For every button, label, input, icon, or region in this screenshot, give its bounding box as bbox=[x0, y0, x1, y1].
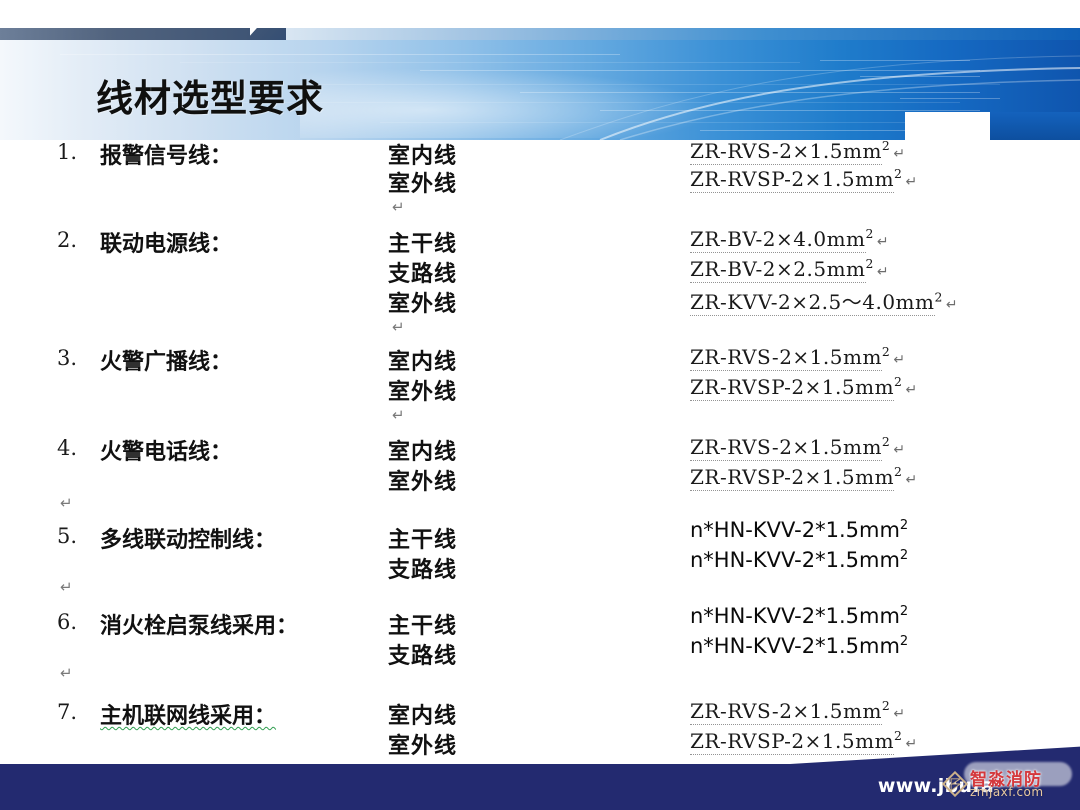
wire-spec: ZR-RVS-2×1.5mm2↵ bbox=[690, 344, 906, 369]
item-number: 7. bbox=[57, 700, 97, 724]
wire-scope: 室内线 bbox=[388, 344, 457, 376]
pilcrow-mark: ↵ bbox=[893, 442, 905, 458]
wire-spec: n*HN-KVV-2*1.5mm2 bbox=[690, 634, 908, 658]
header-glow bbox=[300, 68, 720, 138]
wire-spec: ZR-RVSP-2×1.5mm2↵ bbox=[690, 464, 918, 489]
item-number: 6. bbox=[57, 610, 97, 634]
slide-body: 1. 报警信号线： 室内线 室外线 ZR-RVS-2×1.5mm2↵ ZR-RV… bbox=[0, 132, 1080, 752]
wire-spec-sup: 2 bbox=[900, 604, 908, 619]
wire-spec: n*HN-KVV-2*1.5mm2 bbox=[690, 518, 908, 542]
wire-spec-text: ZR-BV-2×2.5mm bbox=[690, 257, 866, 283]
item-number: 2. bbox=[57, 228, 97, 252]
wire-scope: 主干线 bbox=[388, 522, 457, 554]
wire-spec-text: n*HN-KVV-2*1.5mm bbox=[690, 518, 900, 542]
pilcrow-mark: ↵ bbox=[60, 664, 73, 682]
pilcrow-mark: ↵ bbox=[392, 198, 405, 216]
wire-spec: ZR-RVS-2×1.5mm2↵ bbox=[690, 138, 906, 163]
pilcrow-mark: ↵ bbox=[905, 174, 917, 190]
wire-spec-text: ZR-RVSP-2×1.5mm bbox=[690, 465, 894, 491]
item-label: 联动电源线： bbox=[100, 226, 232, 258]
wire-spec: ZR-RVSP-2×1.5mm2↵ bbox=[690, 374, 918, 399]
wire-spec-sup: 2 bbox=[882, 344, 890, 359]
wire-spec-sup: 2 bbox=[900, 634, 908, 649]
wire-spec-sup: 2 bbox=[894, 464, 902, 479]
wire-spec-text: n*HN-KVV-2*1.5mm bbox=[690, 548, 900, 572]
watermark-logo: 智淼消防 zmjaxf.com bbox=[936, 760, 1076, 806]
wire-scope: 室外线 bbox=[388, 286, 457, 318]
wire-spec-text: ZR-RVS-2×1.5mm bbox=[690, 345, 882, 371]
wire-spec-sup: 2 bbox=[882, 434, 890, 449]
header-top-strip bbox=[286, 28, 1080, 40]
wire-scope: 室外线 bbox=[388, 166, 457, 198]
item-label: 多线联动控制线： bbox=[100, 522, 276, 554]
wire-spec: ZR-BV-2×4.0mm2↵ bbox=[690, 226, 889, 251]
wire-spec: ZR-RVS-2×1.5mm2↵ bbox=[690, 698, 906, 723]
item-label: 消火栓启泵线采用： bbox=[100, 608, 298, 640]
diamond-logo-icon bbox=[942, 771, 968, 797]
wire-spec-sup: 2 bbox=[900, 518, 908, 533]
wire-scope: 室外线 bbox=[388, 728, 457, 760]
wire-spec: ZR-BV-2×2.5mm2↵ bbox=[690, 256, 889, 281]
item-label: 报警信号线： bbox=[100, 138, 232, 170]
wire-spec-sup: 2 bbox=[882, 138, 890, 153]
slide-footer: www.jbufa bbox=[0, 764, 1080, 810]
wire-spec-sup: 2 bbox=[866, 256, 874, 271]
wire-spec-sup: 2 bbox=[894, 728, 902, 743]
pilcrow-mark: ↵ bbox=[60, 494, 73, 512]
pilcrow-mark: ↵ bbox=[60, 578, 73, 596]
wire-scope: 室外线 bbox=[388, 374, 457, 406]
wire-scope: 支路线 bbox=[388, 256, 457, 288]
item-number: 5. bbox=[57, 524, 97, 548]
pilcrow-mark: ↵ bbox=[893, 146, 905, 162]
wire-spec: ZR-RVSP-2×1.5mm2↵ bbox=[690, 728, 918, 753]
wire-spec-text: ZR-RVSP-2×1.5mm bbox=[690, 167, 894, 193]
pilcrow-mark: ↵ bbox=[905, 382, 917, 398]
wire-spec-text: ZR-RVS-2×1.5mm bbox=[690, 435, 882, 461]
page-title: 线材选型要求 bbox=[96, 68, 324, 122]
wire-scope: 室内线 bbox=[388, 698, 457, 730]
item-number: 4. bbox=[57, 436, 97, 460]
wire-spec: ZR-KVV-2×2.5～4.0mm2↵ bbox=[690, 286, 958, 315]
wire-spec-text: n*HN-KVV-2*1.5mm bbox=[690, 604, 900, 628]
wire-spec-sup: 2 bbox=[894, 374, 902, 389]
wire-spec-text: ZR-RVS-2×1.5mm bbox=[690, 139, 882, 165]
wire-spec: ZR-RVSP-2×1.5mm2↵ bbox=[690, 166, 918, 191]
wire-spec-sup: 2 bbox=[935, 289, 943, 304]
wire-spec: ZR-RVS-2×1.5mm2↵ bbox=[690, 434, 906, 459]
presentation-slide: 线材选型要求 1. 报警信号线： 室内线 室外线 ZR-RVS-2×1.5mm2… bbox=[0, 0, 1080, 810]
wire-spec-text: n*HN-KVV-2*1.5mm bbox=[690, 634, 900, 658]
wire-spec: n*HN-KVV-2*1.5mm2 bbox=[690, 604, 908, 628]
wire-scope: 室内线 bbox=[388, 434, 457, 466]
pilcrow-mark: ↵ bbox=[905, 472, 917, 488]
wire-scope: 室外线 bbox=[388, 464, 457, 496]
pilcrow-mark: ↵ bbox=[392, 318, 405, 336]
wire-spec-sup: 2 bbox=[900, 548, 908, 563]
header-left-rail bbox=[0, 28, 250, 40]
wire-scope: 主干线 bbox=[388, 226, 457, 258]
wire-spec-sup: 2 bbox=[866, 226, 874, 241]
wire-spec-text: ZR-RVSP-2×1.5mm bbox=[690, 729, 894, 755]
wire-spec-text: ZR-KVV-2×2.5～4.0mm bbox=[690, 290, 935, 316]
watermark-brand-url: zmjaxf.com bbox=[970, 785, 1044, 799]
pilcrow-mark: ↵ bbox=[392, 406, 405, 424]
wire-spec-text: ZR-RVSP-2×1.5mm bbox=[690, 375, 894, 401]
item-label: 火警电话线： bbox=[100, 434, 232, 466]
pilcrow-mark: ↵ bbox=[905, 736, 917, 752]
wire-scope: 主干线 bbox=[388, 608, 457, 640]
wire-spec-sup: 2 bbox=[894, 166, 902, 181]
item-label: 主机联网线采用： bbox=[100, 698, 276, 730]
item-number: 3. bbox=[57, 346, 97, 370]
wire-scope: 支路线 bbox=[388, 552, 457, 584]
wire-scope: 支路线 bbox=[388, 638, 457, 670]
pilcrow-mark: ↵ bbox=[877, 234, 889, 250]
item-label: 火警广播线： bbox=[100, 344, 232, 376]
pilcrow-mark: ↵ bbox=[893, 352, 905, 368]
wire-spec-text: ZR-RVS-2×1.5mm bbox=[690, 699, 882, 725]
pilcrow-mark: ↵ bbox=[877, 264, 889, 280]
wire-spec: n*HN-KVV-2*1.5mm2 bbox=[690, 548, 908, 572]
item-number: 1. bbox=[57, 140, 97, 164]
pilcrow-mark: ↵ bbox=[893, 706, 905, 722]
pilcrow-mark: ↵ bbox=[946, 297, 958, 313]
wire-spec-sup: 2 bbox=[882, 698, 890, 713]
wire-spec-text: ZR-BV-2×4.0mm bbox=[690, 227, 866, 253]
